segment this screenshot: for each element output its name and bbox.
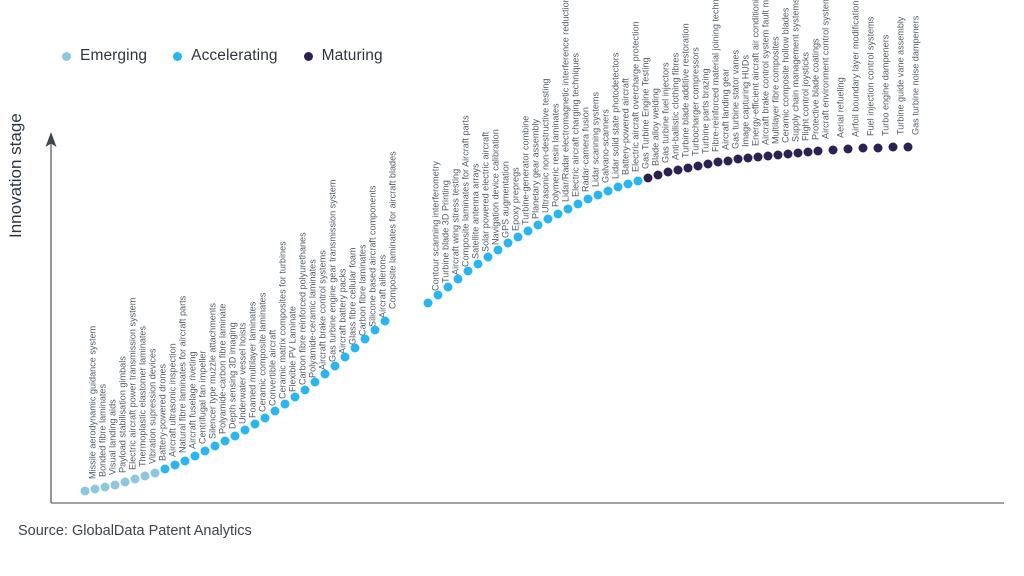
data-point-label: Gas turbine noise dampeners <box>911 16 921 135</box>
data-point-marker <box>101 483 110 492</box>
data-point-marker <box>241 426 250 435</box>
data-point-marker <box>684 164 693 173</box>
data-point-marker <box>504 239 513 248</box>
data-point-marker <box>614 183 623 192</box>
data-point-marker <box>574 200 583 209</box>
data-point-marker <box>904 143 913 152</box>
data-point-marker <box>121 478 130 487</box>
data-point-marker <box>524 227 533 236</box>
data-point-marker <box>484 253 493 262</box>
data-point-marker <box>564 205 573 214</box>
data-point-marker <box>281 400 290 409</box>
data-point-label: Turbine guide vane assembly <box>896 17 906 135</box>
data-point-marker <box>844 145 853 154</box>
data-point-marker <box>784 150 793 159</box>
data-point-label: Turbo engine dampeners <box>881 35 891 136</box>
data-point-marker <box>804 148 813 157</box>
data-point-marker <box>594 191 603 200</box>
data-point-marker <box>889 143 898 152</box>
data-point-marker <box>464 267 473 276</box>
data-point-label: Composite laminates for aircraft blades <box>388 151 398 309</box>
data-point-marker <box>301 386 310 395</box>
data-point-marker <box>544 215 553 224</box>
data-point-marker <box>111 481 120 490</box>
data-point-marker <box>714 158 723 167</box>
data-point-marker <box>321 370 330 379</box>
data-point-marker <box>211 442 220 451</box>
data-point-marker <box>381 317 390 326</box>
data-point-marker <box>664 168 673 177</box>
data-point-marker <box>704 160 713 169</box>
data-point-marker <box>161 465 170 474</box>
data-point-label: Fuel injection control systems <box>866 17 876 136</box>
data-point-marker <box>291 393 300 402</box>
data-point-marker <box>424 299 433 308</box>
data-point-marker <box>361 335 370 344</box>
data-point-marker <box>874 144 883 153</box>
data-point-marker <box>444 283 453 292</box>
data-point-marker <box>171 461 180 470</box>
data-point-marker <box>654 171 663 180</box>
data-point-marker <box>724 157 733 166</box>
data-point-marker <box>271 407 280 416</box>
data-point-marker <box>534 221 543 230</box>
data-point-marker <box>514 233 523 242</box>
data-point-marker <box>434 291 443 300</box>
plot-area: Missile aerodynamic guidance systemBonde… <box>0 0 1024 576</box>
data-point-marker <box>694 162 703 171</box>
data-point-marker <box>201 447 210 456</box>
data-point-marker <box>181 457 190 466</box>
data-point-marker <box>231 432 240 441</box>
data-point-label: Aircraft environment control system <box>821 0 831 139</box>
data-point-marker <box>221 437 230 446</box>
data-point-marker <box>584 195 593 204</box>
data-point-marker <box>81 487 90 496</box>
data-point-marker <box>744 154 753 163</box>
data-point-marker <box>859 144 868 153</box>
data-point-marker <box>131 475 140 484</box>
data-point-marker <box>261 414 270 423</box>
data-point-marker <box>829 146 838 155</box>
data-point-marker <box>794 149 803 158</box>
data-point-marker <box>754 153 763 162</box>
data-point-marker <box>494 246 503 255</box>
data-point-marker <box>764 152 773 161</box>
data-point-marker <box>341 353 350 362</box>
data-point-label: Airfoil boundary layer modification <box>851 1 861 137</box>
data-point-marker <box>644 174 653 183</box>
data-point-marker <box>331 362 340 371</box>
data-point-marker <box>634 177 643 186</box>
data-point-label: Aerial refueling <box>836 77 846 138</box>
data-point-marker <box>351 344 360 353</box>
data-point-marker <box>91 485 100 494</box>
data-point-marker <box>371 326 380 335</box>
data-point-marker <box>474 260 483 269</box>
data-point-marker <box>674 166 683 175</box>
data-point-marker <box>774 151 783 160</box>
data-point-marker <box>311 378 320 387</box>
data-point-marker <box>604 187 613 196</box>
data-point-marker <box>151 469 160 478</box>
data-point-marker <box>734 155 743 164</box>
data-point-marker <box>554 210 563 219</box>
data-point-marker <box>624 180 633 189</box>
data-point-marker <box>454 275 463 284</box>
innovation-stage-chart: EmergingAcceleratingMaturing Innovation … <box>0 0 1024 576</box>
data-point-marker <box>814 147 823 156</box>
source-note: Source: GlobalData Patent Analytics <box>18 523 252 539</box>
data-point-marker <box>141 472 150 481</box>
data-point-marker <box>191 452 200 461</box>
data-point-marker <box>251 420 260 429</box>
